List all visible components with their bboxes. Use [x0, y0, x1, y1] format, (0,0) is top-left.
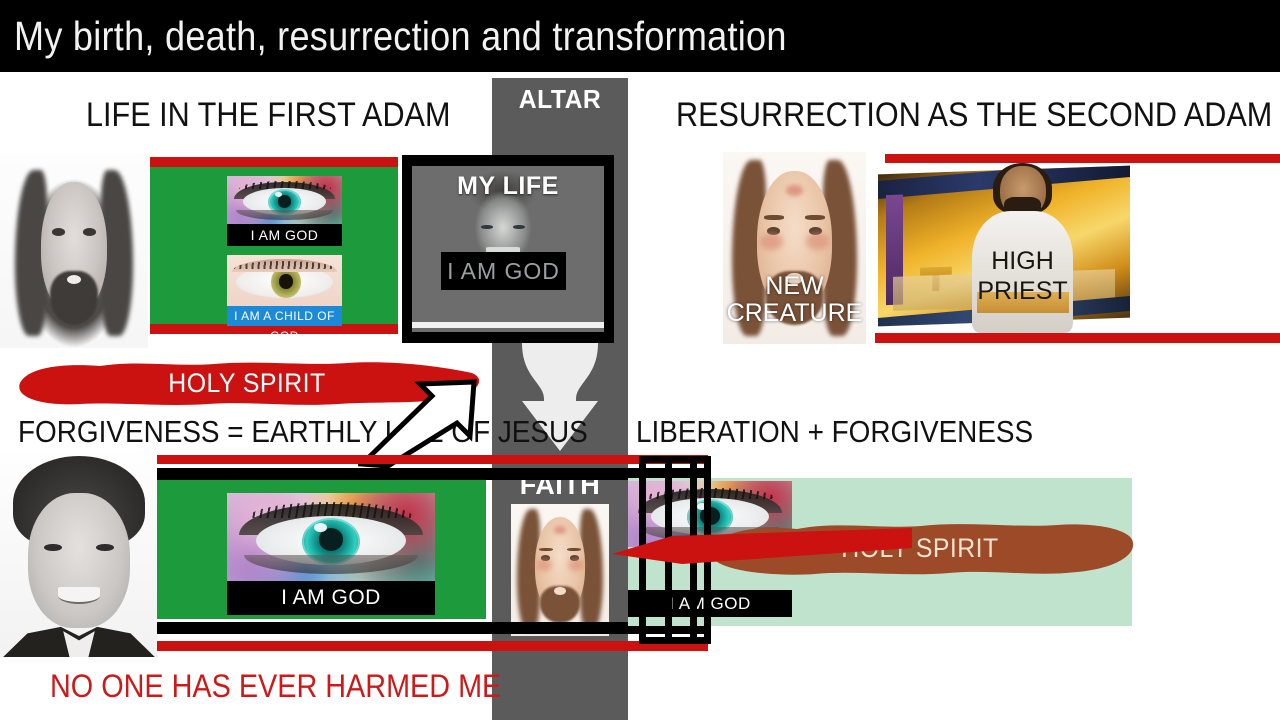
footer-line: NO ONE HAS EVER HARMED ME — [50, 668, 501, 705]
my-life-bottom-highlight — [412, 322, 604, 328]
page-title: My birth, death, resurrection and transf… — [14, 6, 787, 66]
heading-right: RESURRECTION AS THE SECOND ADAM — [676, 96, 1272, 135]
liberation-line: LIBERATION + FORGIVENESS — [636, 414, 1033, 450]
my-life-label: MY LIFE — [412, 172, 604, 201]
label-i-am-god-bottom-left: I AM GOD — [227, 581, 435, 615]
my-life-faint-label: I AM GOD — [441, 258, 566, 285]
eye-artwork-bottom-left — [227, 493, 435, 581]
black-bar-bottom-bottom-left — [157, 622, 708, 634]
red-bar-bottom-green-bottom — [157, 641, 708, 651]
label-i-am-god-1: I AM GOD — [227, 224, 342, 246]
title-bar: My birth, death, resurrection and transf… — [0, 0, 1280, 72]
red-bar-bottom-green-top — [157, 455, 708, 464]
high-priest-label-text: HIGH PRIEST — [977, 247, 1067, 305]
label-i-am-a-child-of-god: I AM A CHILD OF GOD — [227, 306, 342, 326]
red-bar-top-left — [150, 157, 398, 167]
heading-left: LIFE IN THE FIRST ADAM — [86, 96, 450, 135]
faith-jesus-portrait — [511, 504, 609, 636]
red-bar-bottom-right — [875, 333, 1280, 343]
eye-photo-child-of-god — [227, 255, 342, 306]
new-creature-label: NEW CREATURE — [723, 273, 866, 327]
eye-artwork-i-am-god — [227, 176, 342, 224]
altar-label: ALTAR — [495, 84, 624, 115]
left-arrow-icon — [612, 528, 912, 572]
forgiveness-line: FORGIVENESS = EARTHLY LIFE OF JESUS — [18, 414, 588, 450]
first-adam-jesus-portrait — [0, 155, 148, 348]
black-bar-top-bottom-left — [157, 468, 708, 480]
red-bar-top-right — [885, 154, 1280, 163]
man-photo — [0, 452, 158, 657]
high-priest-label: HIGH PRIEST — [965, 246, 1080, 306]
slide-canvas: My birth, death, resurrection and transf… — [0, 0, 1280, 720]
